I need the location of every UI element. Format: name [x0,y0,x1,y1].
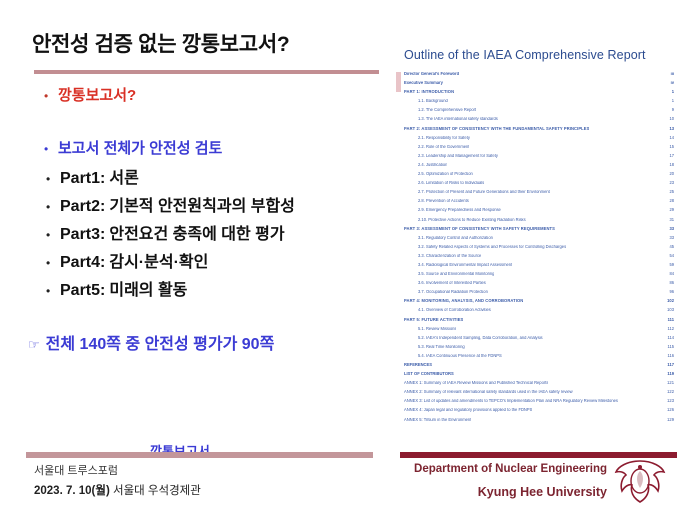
part-description: 안전요건 충족에 대한 평가 [109,220,284,244]
toc-entry-label: 2.10. Protective Actions to Reduce Exist… [402,218,526,222]
toc-entry-page: 10 [665,117,674,121]
toc-entry-label: 1.2. The Comprehensive Report [402,108,476,112]
toc-entry: 5.3. Real Time Monitoring115 [402,345,674,354]
toc-entry-label: ANNEX 5: Tritium in the Environment [402,418,471,422]
toc-entry-page: 15 [665,145,674,149]
toc-entry-page: 1 [668,90,674,94]
toc-entry-label: ANNEX 2: Summary of relevant internation… [402,390,573,394]
conclusion-statement: ☞ 전체 140쪽 중 안전성 평가가 90쪽 [28,330,274,354]
page-title: 안전성 검증 없는 깡통보고서? [32,28,289,58]
toc-entry: 3.6. Involvement of Interested Parties86 [402,281,674,290]
part-description: 기본적 안전원칙과의 부합성 [109,192,295,216]
table-of-contents: Director General's ForewordiiiExecutive … [402,72,674,427]
footer-department: Department of Nuclear Engineering [414,463,607,475]
toc-entry-page: 122 [663,390,674,394]
toc-entry-label: 3.3. Characterization of the Source [402,254,481,258]
bullet-dot-icon: • [46,257,60,269]
list-item-part5: • Part5: 미래의 활동 [46,276,187,300]
toc-entry-label: Executive Summary [402,81,443,85]
toc-entry-label: ANNEX 1: Summary of IAEA Review Missions… [402,381,548,385]
toc-entry-page: 17 [665,154,674,158]
bullet-item-overall: • 보고서 전체가 안전성 검토 [44,137,222,158]
toc-entry-page: 14 [665,136,674,140]
toc-entry-page: 123 [663,399,674,403]
footer-date-venue: 2023. 7. 10(월) 서울대 우석경제관 [34,482,201,498]
toc-entry-page: 23 [665,181,674,185]
toc-entry-page: 1 [668,99,674,103]
list-item-part3: • Part3: 안전요건 충족에 대한 평가 [46,220,285,244]
toc-entry: 2.3. Leadership and Management for Safet… [402,154,674,163]
toc-entry: 4.1. Overview of Corroboration Activitie… [402,308,674,317]
toc-entry: 1.2. The Comprehensive Report9 [402,108,674,117]
toc-entry: PART 1: INTRODUCTION1 [402,90,674,99]
toc-entry-label: PART 3: ASSESSMENT OF CONSISTENCY WITH S… [402,227,555,231]
toc-entry: 2.2. Role of the Government15 [402,145,674,154]
toc-entry-label: 1.1. Background [402,99,448,103]
toc-entry-page: iv [667,81,674,85]
list-item-part2: • Part2: 기본적 안전원칙과의 부합성 [46,192,295,216]
toc-entry-label: 3.1. Regulatory Control and Authorizatio… [402,236,493,240]
toc-entry-page: 84 [665,272,674,276]
toc-entry-page: 33 [665,227,674,231]
toc-entry-page: 117 [663,363,674,367]
toc-entry-page: 59 [665,263,674,267]
toc-entry: REFERENCES117 [402,363,674,372]
toc-entry-page: 86 [665,281,674,285]
toc-entry-label: 2.7. Protection of Present and Future Ge… [402,190,550,194]
toc-entry: Director General's Forewordiii [402,72,674,81]
toc-entry: 2.9. Emergency Preparedness and Response… [402,208,674,217]
toc-entry-page: 103 [663,308,674,312]
toc-entry-page: 115 [663,345,674,349]
toc-entry-label: 2.5. Optimization of Protection [402,172,473,176]
toc-entry: ANNEX 4: Japan legal and regulatory prov… [402,408,674,417]
toc-entry: ANNEX 1: Summary of IAEA Review Missions… [402,381,674,390]
toc-entry-page: 45 [665,245,674,249]
toc-entry-page: 9 [668,108,674,112]
toc-entry-page: 112 [663,327,674,331]
footer-date: 2023. 7. 10(월) [34,485,110,497]
toc-entry-label: 1.3. The IAEA international safety stand… [402,117,498,121]
footer-forum-name: 서울대 트루스포럼 [34,462,118,478]
toc-entry-label: 2.2. Role of the Government [402,145,469,149]
title-divider [34,70,379,74]
toc-entry-label: 2.3. Leadership and Management for Safet… [402,154,498,158]
toc-entry-page: 119 [663,372,674,376]
bullet-label-kkangtong: 깡통보고서? [58,84,136,105]
toc-entry-page: iii [667,72,674,76]
iaea-outline-panel: Outline of the IAEA Comprehensive Report… [396,34,677,454]
pointing-hand-icon: ☞ [28,337,40,353]
toc-entry: 1.1. Background1 [402,99,674,108]
toc-entry: 2.5. Optimization of Protection20 [402,172,674,181]
toc-entry-label: 2.9. Emergency Preparedness and Response [402,208,501,212]
toc-entry-page: 96 [665,290,674,294]
toc-entry-label: 5.2. IAEA's Independent Sampling, Data C… [402,336,543,340]
part-label: Part3: [60,226,105,244]
toc-entry: ANNEX 3: List of updates and amendments … [402,399,674,408]
toc-entry: 3.1. Regulatory Control and Authorizatio… [402,236,674,245]
part-label: Part5: [60,282,105,300]
toc-entry-label: ANNEX 3: List of updates and amendments … [402,399,618,403]
toc-entry-page: 25 [665,190,674,194]
toc-entry: ANNEX 2: Summary of relevant internation… [402,390,674,399]
part-description: 서론 [109,164,138,188]
toc-entry: Executive Summaryiv [402,81,674,90]
toc-entry: 5.2. IAEA's Independent Sampling, Data C… [402,336,674,345]
toc-entry-label: PART 4: MONITORING, ANALYSIS, AND CORROB… [402,299,523,303]
part-label: Part4: [60,254,105,272]
bullet-dot-icon: • [46,173,60,185]
toc-entry: PART 2: ASSESSMENT OF CONSISTENCY WITH T… [402,127,674,136]
toc-entry-label: PART 1: INTRODUCTION [402,90,454,94]
part-description: 미래의 활동 [109,276,187,300]
university-crest-icon [611,458,669,504]
toc-entry: 2.10. Protective Actions to Reduce Exist… [402,218,674,227]
toc-entry-page: 116 [663,354,674,358]
toc-entry: PART 3: ASSESSMENT OF CONSISTENCY WITH S… [402,227,674,236]
toc-entry-label: 3.4. Radiological Environmental Impact A… [402,263,512,267]
part-label: Part1: [60,170,105,188]
footer-university: Kyung Hee University [478,485,607,499]
list-item-part1: • Part1: 서론 [46,164,139,188]
toc-entry-page: 29 [665,208,674,212]
toc-entry: 2.4. Justification18 [402,163,674,172]
toc-entry-page: 111 [664,318,674,322]
toc-entry-page: 102 [663,299,674,303]
toc-entry-page: 114 [663,336,674,340]
toc-entry: LIST OF CONTRIBUTORS119 [402,372,674,381]
toc-entry-label: PART 5: FUTURE ACTIVITIES [402,318,463,322]
toc-entry-label: 3.7. Occupational Radiation Protection [402,290,488,294]
toc-entry: PART 4: MONITORING, ANALYSIS, AND CORROB… [402,299,674,308]
toc-entry-page: 20 [665,172,674,176]
toc-entry: 2.1. Responsibility for Safety14 [402,136,674,145]
toc-entry-page: 28 [665,199,674,203]
toc-entry-page: 121 [663,381,674,385]
toc-entry: 3.5. Source and Environmental Monitoring… [402,272,674,281]
footer-divider-left [26,452,373,458]
toc-entry-page: 126 [663,408,674,412]
toc-entry: 3.7. Occupational Radiation Protection96 [402,290,674,299]
toc-entry-label: 2.4. Justification [402,163,447,167]
bullet-dot-icon: • [46,229,60,241]
toc-entry-label: LIST OF CONTRIBUTORS [402,372,454,376]
toc-entry-page: 33 [665,236,674,240]
toc-entry-label: 5.4. IAEA Continuous Presence at the FDN… [402,354,502,358]
bullet-label-overall: 보고서 전체가 안전성 검토 [58,137,222,158]
toc-entry-page: 13 [665,127,674,131]
toc-entry: 2.6. Limitation of Risks to Individuals2… [402,181,674,190]
toc-entry-page: 31 [665,218,674,222]
toc-entry-label: ANNEX 4: Japan legal and regulatory prov… [402,408,532,412]
list-item-part4: • Part4: 감시·분석·확인 [46,248,208,272]
toc-entry: 5.1. Review Missions112 [402,327,674,336]
toc-entry: 3.2. Safety Related Aspects of Systems a… [402,245,674,254]
bullet-dot-icon: • [44,143,58,155]
bullet-dot-icon: • [46,201,60,213]
toc-entry-page: 18 [665,163,674,167]
conclusion-text: 전체 140쪽 중 안전성 평가가 90쪽 [46,330,275,354]
toc-entry: 3.3. Characterization of the Source54 [402,254,674,263]
part-description: 감시·분석·확인 [109,248,208,272]
bullet-dot-icon: • [46,285,60,297]
toc-entry-label: 3.5. Source and Environmental Monitoring [402,272,494,276]
toc-entry: 5.4. IAEA Continuous Presence at the FDN… [402,354,674,363]
outline-accent-bar [396,72,401,92]
toc-entry-label: PART 2: ASSESSMENT OF CONSISTENCY WITH T… [402,127,589,131]
toc-entry: PART 5: FUTURE ACTIVITIES111 [402,318,674,327]
toc-entry-label: 4.1. Overview of Corroboration Activitie… [402,308,491,312]
toc-entry: 2.8. Prevention of Accidents28 [402,199,674,208]
toc-entry-label: 2.8. Prevention of Accidents [402,199,469,203]
toc-entry: 3.4. Radiological Environmental Impact A… [402,263,674,272]
toc-entry: 2.7. Protection of Present and Future Ge… [402,190,674,199]
toc-entry-label: 3.2. Safety Related Aspects of Systems a… [402,245,566,249]
toc-entry-label: REFERENCES [402,363,432,367]
toc-entry-label: 5.3. Real Time Monitoring [402,345,465,349]
toc-entry: 1.3. The IAEA international safety stand… [402,117,674,126]
footer-venue: 서울대 우석경제관 [113,485,201,497]
toc-entry-page: 54 [665,254,674,258]
toc-entry-label: 3.6. Involvement of Interested Parties [402,281,486,285]
toc-entry: ANNEX 5: Tritium in the Environment129 [402,418,674,427]
bullet-dot-icon: • [44,90,58,102]
toc-entry-label: 5.1. Review Missions [402,327,456,331]
toc-entry-label: 2.6. Limitation of Risks to Individuals [402,181,484,185]
part-label: Part2: [60,198,105,216]
toc-entry-label: 2.1. Responsibility for Safety [402,136,470,140]
bullet-item-kkangtong: • 깡통보고서? [44,84,136,105]
outline-heading: Outline of the IAEA Comprehensive Report [404,48,646,62]
toc-entry-page: 129 [663,418,674,422]
toc-entry-label: Director General's Foreword [402,72,459,76]
